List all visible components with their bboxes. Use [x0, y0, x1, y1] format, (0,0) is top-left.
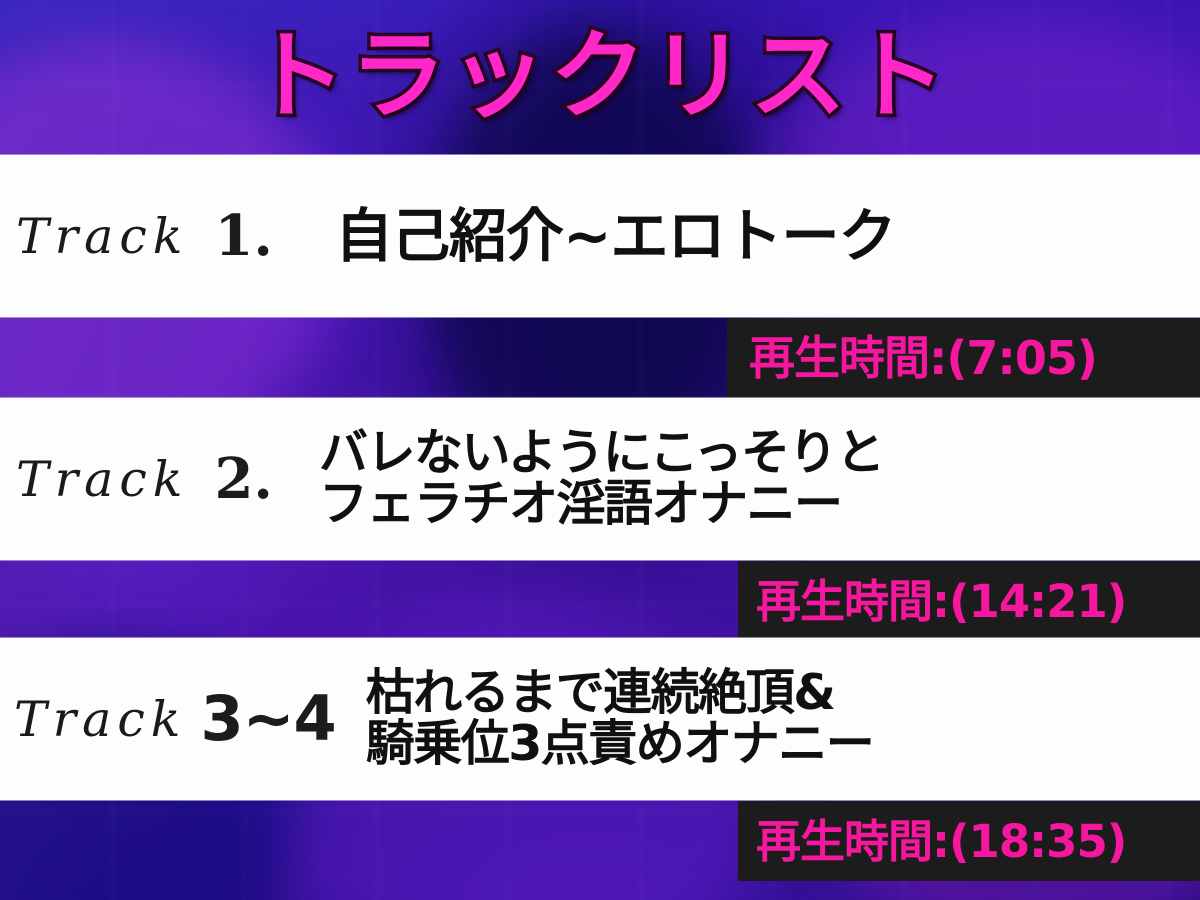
track-label: Track — [16, 208, 188, 265]
duration-text: 再生時間:(7:05) — [749, 335, 1097, 381]
track-title-line: 騎乗位3点責めオナニー — [366, 715, 874, 772]
track-number: 3~4 — [200, 688, 335, 750]
track-number: 1. — [214, 208, 272, 264]
track-title: バレないようにこっそりと フェラチオ淫語オナニー — [319, 428, 884, 530]
track-title-line: フェラチオ淫語オナニー — [319, 475, 842, 532]
track-label: Track — [16, 451, 188, 508]
track-row: Track 3~4 枯れるまで連続絶頂& 騎乗位3点責めオナニー — [0, 638, 1200, 800]
track-number: 2. — [214, 451, 272, 507]
track-title-line: 枯れるまで連続絶頂& — [366, 664, 835, 721]
track-label: Track — [14, 691, 186, 748]
track-title-line: バレないようにこっそりと — [319, 424, 884, 481]
duration-text: 再生時間:(14:21) — [756, 579, 1126, 624]
duration-text: 再生時間:(18:35) — [756, 819, 1126, 864]
page-title: トラックリスト — [0, 0, 1200, 155]
track-title: 枯れるまで連続絶頂& 騎乗位3点責めオナニー — [366, 668, 874, 770]
duration-bar: 再生時間:(18:35) — [738, 801, 1200, 881]
page-title-text: トラックリスト — [250, 28, 950, 124]
track-row: Track 1. 自己紹介~エロトーク — [0, 155, 1200, 317]
duration-bar: 再生時間:(14:21) — [738, 561, 1200, 641]
duration-bar: 再生時間:(7:05) — [727, 318, 1200, 398]
track-title-line: 自己紹介~エロトーク — [335, 202, 896, 270]
track-title: 自己紹介~エロトーク — [335, 206, 896, 266]
track-row: Track 2. バレないようにこっそりと フェラチオ淫語オナニー — [0, 398, 1200, 560]
tracklist-slide: トラックリスト Track 1. 自己紹介~エロトーク 再生時間:(7:05) … — [0, 0, 1200, 900]
